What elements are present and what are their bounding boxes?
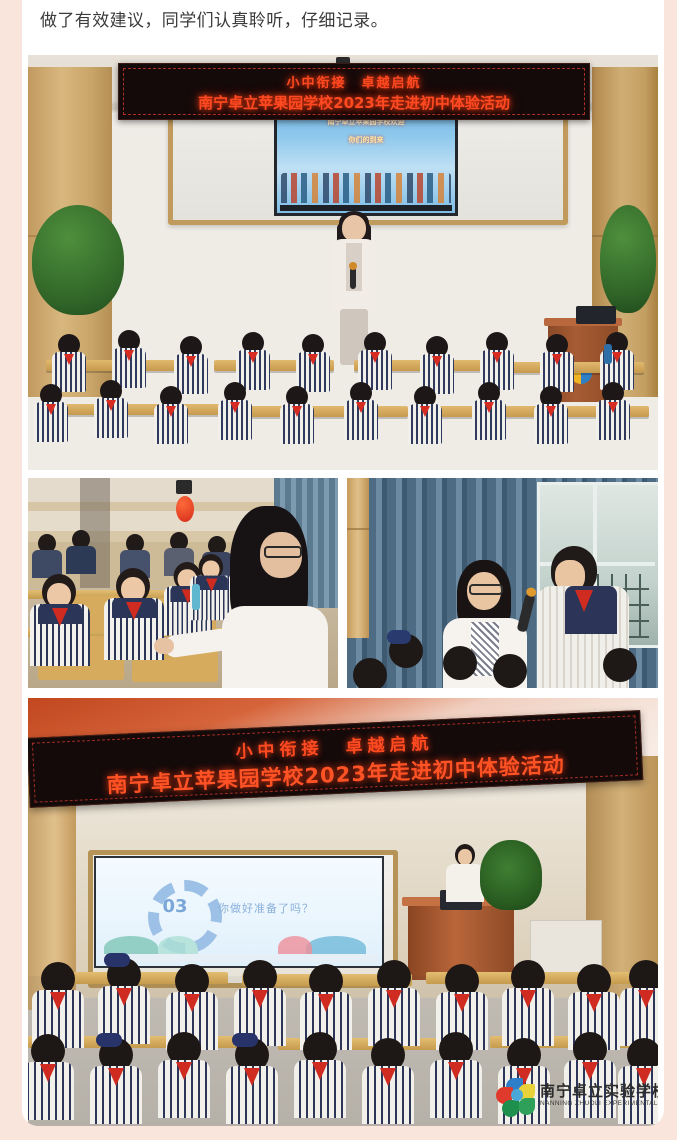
ceiling-speaker — [176, 480, 192, 494]
photo-teacher-student-interaction[interactable] — [28, 478, 338, 688]
projection-screen: 03 你做好准备了吗？ — [94, 856, 384, 968]
photo-auditorium-wide[interactable]: 南宁卓立苹果园学校欢迎 你们的到来 小中衔接 卓越启航 南宁卓立苹果园学校202… — [28, 55, 658, 470]
plant — [480, 840, 542, 910]
balloon-decoration — [176, 496, 194, 522]
slide-text: 你做好准备了吗？ — [218, 900, 314, 916]
photo-auditorium-presentation[interactable]: 小中衔接 卓越启航 南宁卓立苹果园学校2023年走进初中体验活动 03 你做好准… — [28, 698, 658, 1126]
led-banner: 小中衔接 卓越启航 南宁卓立苹果园学校2023年走进初中体验活动 — [118, 63, 590, 120]
slide-line-2: 你们的到来 — [277, 135, 455, 145]
podium-laptop — [576, 306, 616, 324]
led-banner-line-2: 南宁卓立苹果园学校2023年走进初中体验活动 — [119, 92, 589, 113]
page-root: 做了有效建议，同学们认真聆听，仔细记录。 南宁卓立苹果园学校欢迎 你们的到来 — [0, 0, 677, 1140]
teacher-figure — [216, 506, 328, 688]
photo-student-speaking[interactable] — [347, 478, 658, 688]
front-student-2 — [437, 646, 483, 688]
hair-bow — [387, 630, 411, 644]
glasses-icon — [264, 546, 302, 558]
teacher-figure — [446, 844, 484, 902]
article-card: 做了有效建议，同学们认真聆听，仔细记录。 南宁卓立苹果园学校欢迎 你们的到来 — [22, 0, 664, 1126]
school-name-en: NANNING ZHUOLI EXPERIMENTAL SCHOOL — [540, 1100, 658, 1107]
school-watermark: 南宁卓立实验学校 NANNING ZHUOLI EXPERIMENTAL SCH… — [496, 1074, 648, 1120]
water-bottle — [604, 344, 612, 364]
front-student-5 — [347, 658, 393, 688]
water-bottle — [192, 584, 200, 610]
school-name-cn: 南宁卓立实验学校 — [540, 1080, 658, 1101]
wood-panel — [347, 478, 369, 638]
slide-toolbar — [280, 205, 452, 211]
school-logo-icon — [496, 1078, 536, 1118]
slide-illustration — [281, 173, 451, 203]
led-banner-line-1: 小中衔接 卓越启航 — [119, 72, 589, 91]
plant-right — [600, 205, 656, 313]
article-paragraph: 做了有效建议，同学们认真聆听，仔细记录。 — [40, 6, 640, 36]
microphone-icon — [350, 267, 356, 289]
plant-left — [32, 205, 124, 315]
front-student-4 — [597, 648, 643, 688]
front-student-3 — [487, 654, 533, 688]
student-seating-area — [28, 340, 658, 470]
slide-number: 03 — [160, 896, 190, 917]
glasses-icon — [469, 584, 503, 595]
